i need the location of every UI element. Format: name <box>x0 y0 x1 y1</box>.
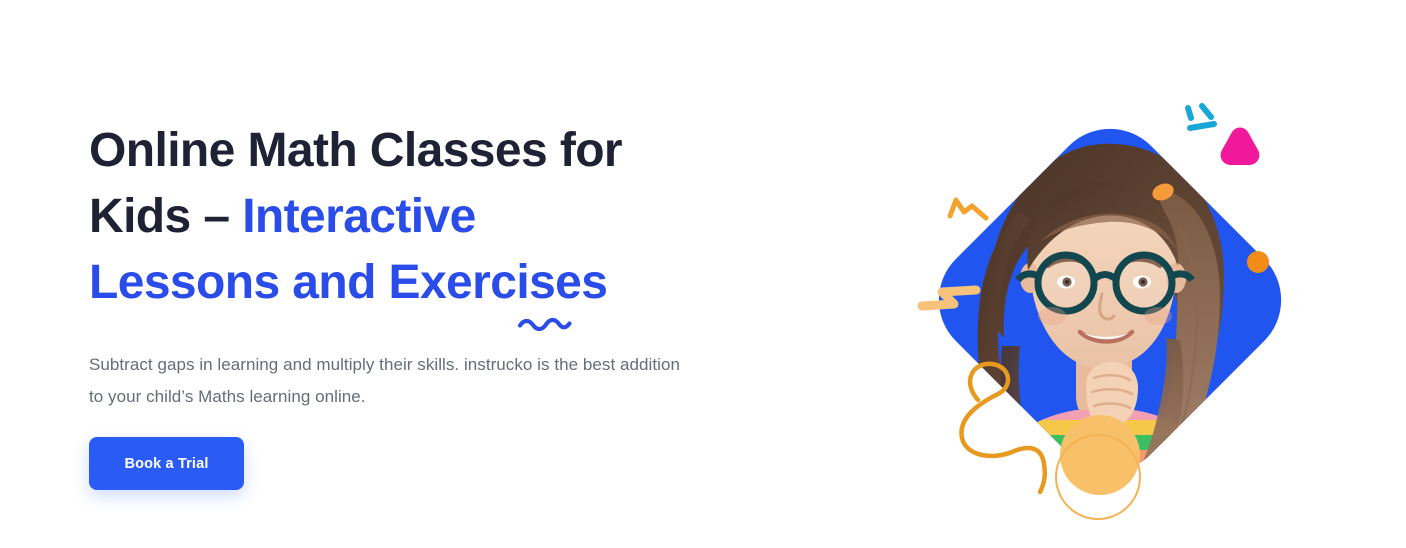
amber-filled-circle-icon <box>1060 415 1140 495</box>
book-a-trial-button[interactable]: Book a Trial <box>89 437 244 490</box>
teal-dash-cluster-icon <box>1188 106 1214 128</box>
hero-copy-column: Online Math Classes for Kids – Interacti… <box>89 118 709 316</box>
hero-illustration <box>880 70 1320 530</box>
orange-zigzag-icon <box>950 200 986 218</box>
headline-line-2-accent: Interactive <box>242 190 476 243</box>
blue-wavy-underline-icon <box>518 316 572 332</box>
magenta-rounded-triangle-icon <box>1221 128 1260 166</box>
orange-circle-icon <box>1247 251 1269 273</box>
headline-line-3-accent: Lessons and Exercises <box>89 256 607 309</box>
headline-line-1: Online Math Classes for <box>89 124 622 177</box>
hero-section: Online Math Classes for Kids – Interacti… <box>0 0 1406 548</box>
hero-subtitle: Subtract gaps in learning and multiply t… <box>89 349 689 413</box>
page-title: Online Math Classes for Kids – Interacti… <box>89 118 709 316</box>
headline-line-2-dark: Kids – <box>89 190 242 243</box>
